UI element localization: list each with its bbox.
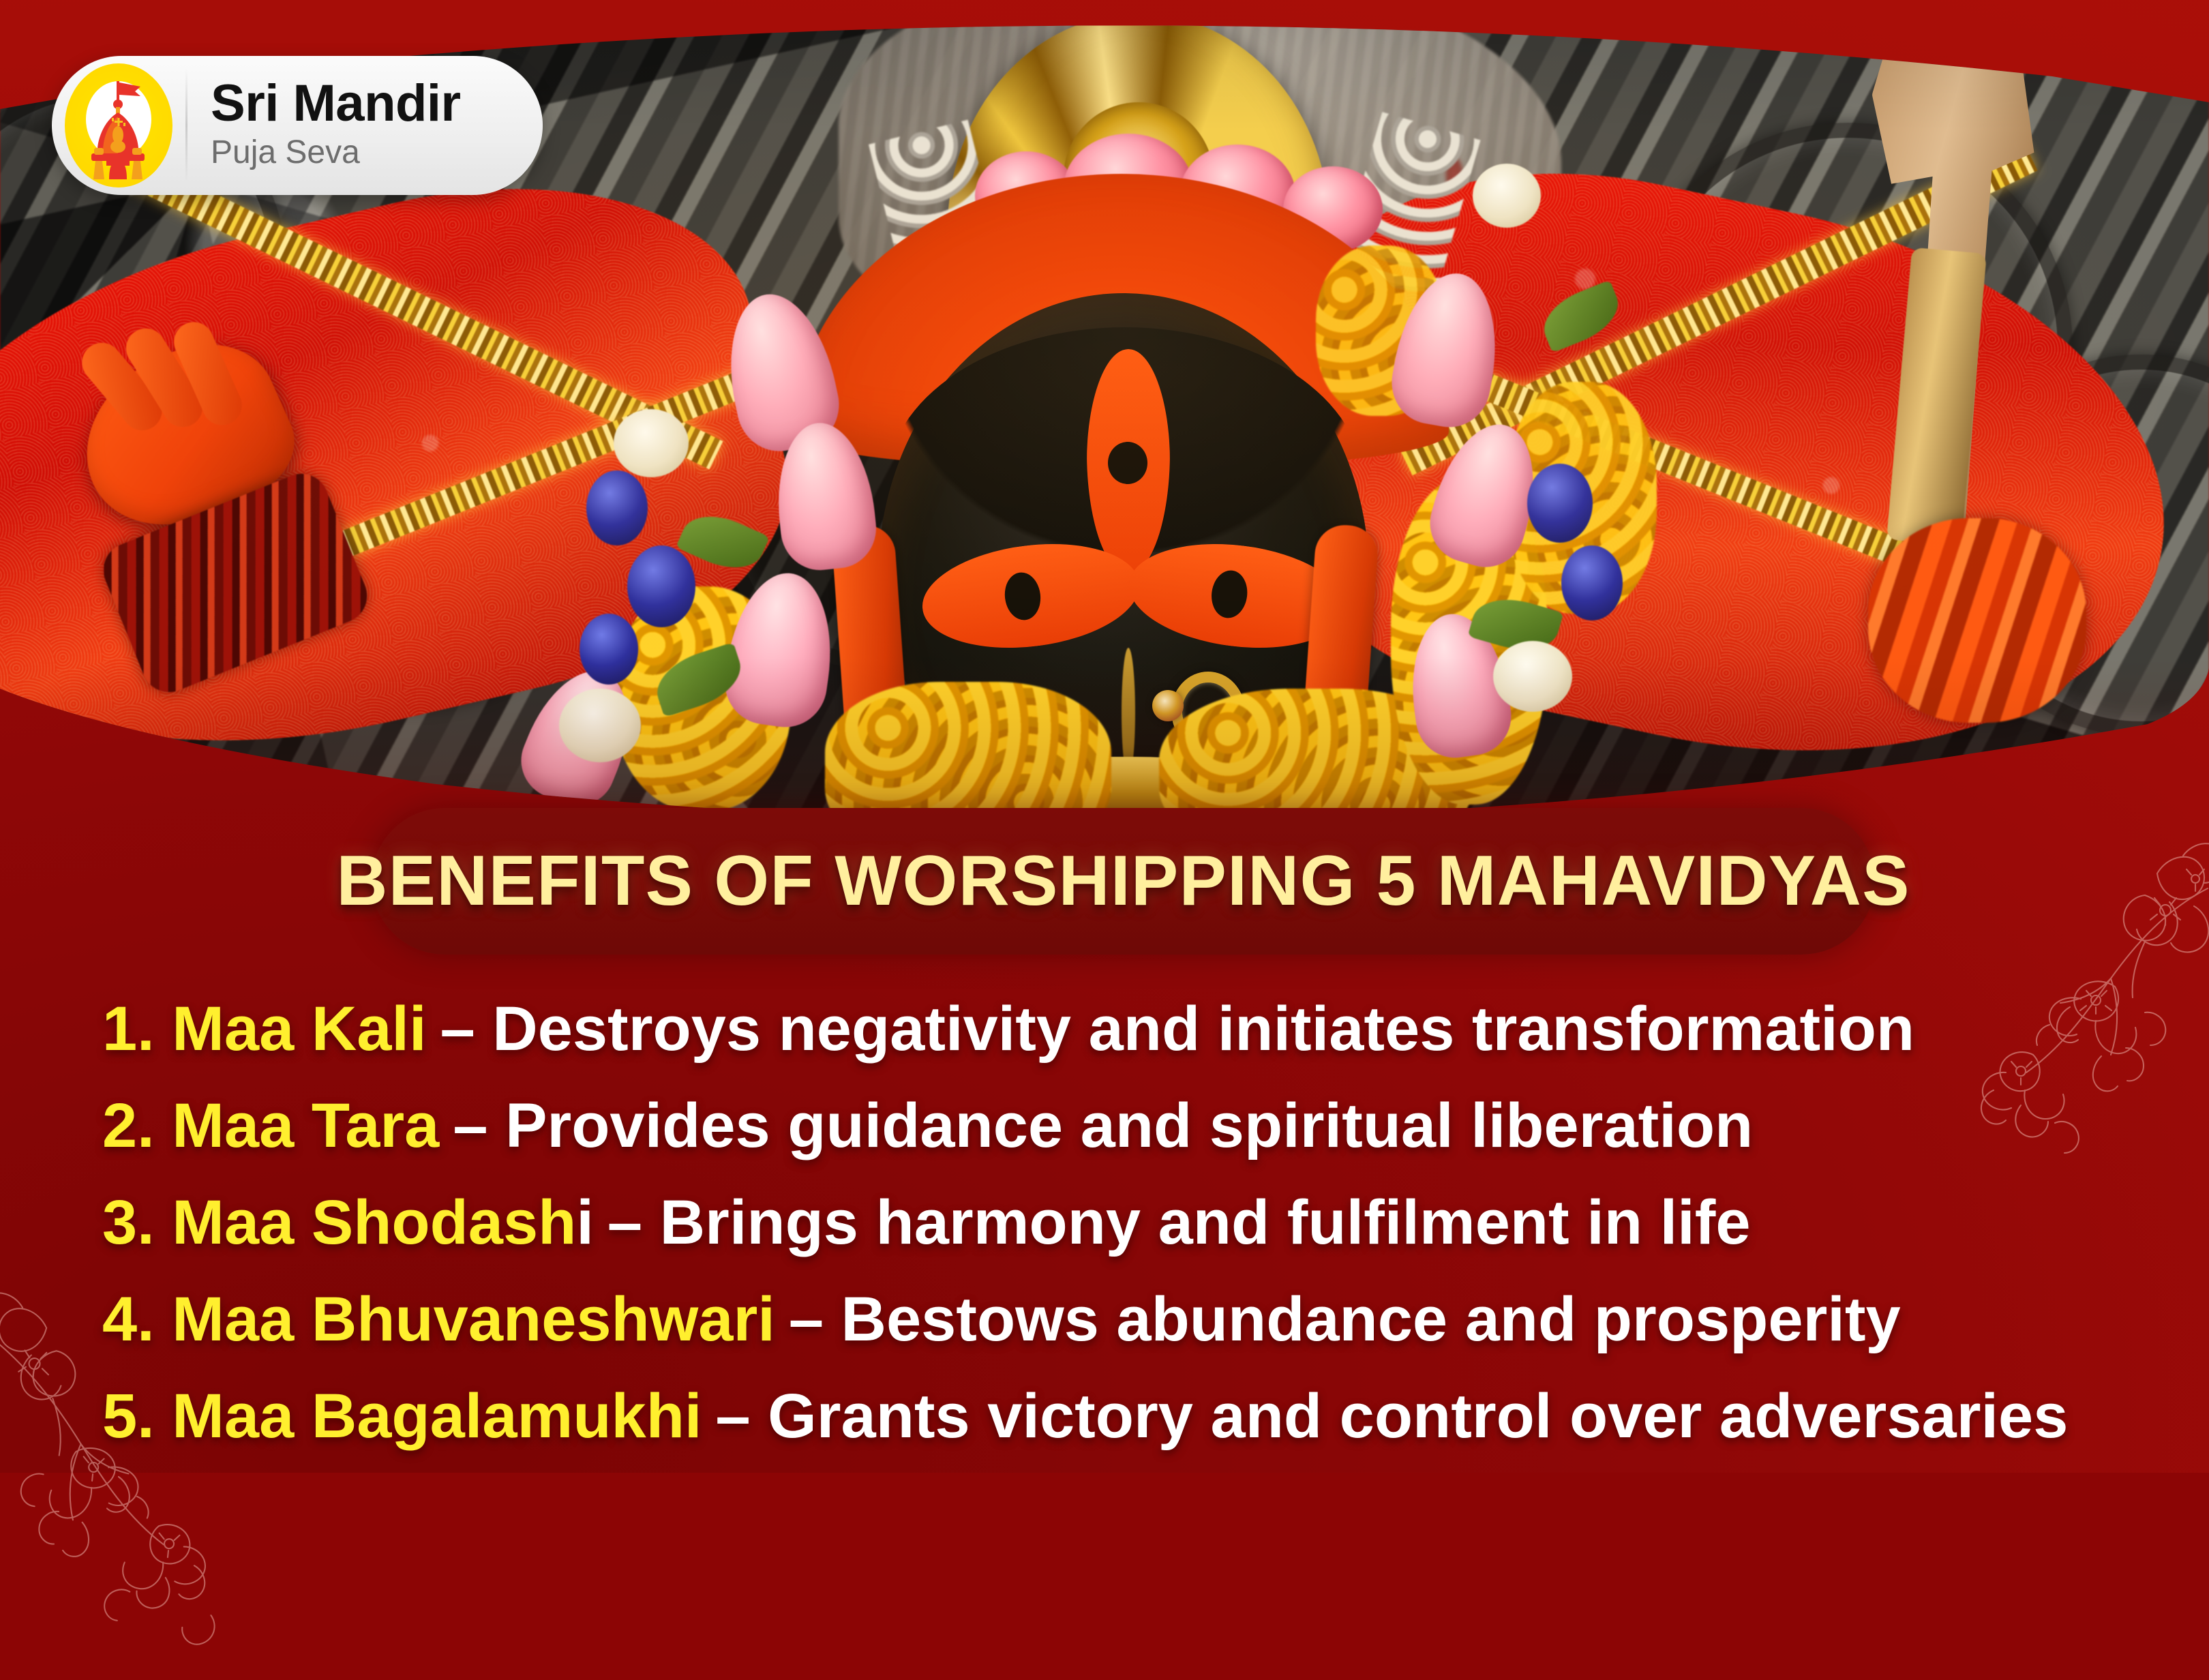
marigold-garland xyxy=(825,682,1111,822)
page-title: BENEFITS OF WORSHIPPING 5 MAHAVIDYAS xyxy=(336,841,1910,922)
white-flower xyxy=(1473,164,1541,228)
benefit-name: 1. Maa Kali xyxy=(102,993,427,1065)
benefit-description: – Bestows abundance and prosperity xyxy=(789,1284,1901,1355)
benefit-name: 2. Maa Tara xyxy=(102,1090,439,1162)
brand-name: Sri Mandir xyxy=(211,78,461,130)
benefit-description: – Provides guidance and spiritual libera… xyxy=(453,1090,1753,1162)
benefit-name: 3. Maa Shodashi xyxy=(102,1187,594,1259)
vermillion-garland-on-sword xyxy=(1868,518,2086,723)
benefit-description: – Brings harmony and fulfilment in life xyxy=(607,1187,1751,1259)
title-banner: BENEFITS OF WORSHIPPING 5 MAHAVIDYAS xyxy=(372,808,1875,955)
white-flower xyxy=(614,409,689,477)
floral-branch-line-art-icon xyxy=(0,1271,269,1680)
list-item: 4. Maa Bhuvaneshwari – Bestows abundance… xyxy=(102,1271,2120,1368)
list-item: 2. Maa Tara – Provides guidance and spir… xyxy=(102,1077,2120,1174)
logo-wrap xyxy=(52,56,185,195)
list-item: 3. Maa Shodashi – Brings harmony and ful… xyxy=(102,1174,2120,1271)
benefit-description: – Destroys negativity and initiates tran… xyxy=(440,993,1915,1065)
temple-dome-flag-icon xyxy=(65,63,172,187)
blue-flower-bud xyxy=(586,470,648,545)
white-flower xyxy=(559,689,641,762)
list-item: 1. Maa Kali – Destroys negativity and in… xyxy=(102,980,2120,1077)
floral-branch-line-art-icon xyxy=(1940,808,2209,1231)
blue-flower-bud xyxy=(1527,464,1593,543)
benefits-list: 1. Maa Kali – Destroys negativity and in… xyxy=(102,980,2120,1465)
khadga-sword-icon xyxy=(1831,18,2103,582)
poster-canvas: Sri Mandir Puja Seva BENEFITS OF WORSHIP… xyxy=(0,0,2209,1473)
sri-mandir-brand-badge[interactable]: Sri Mandir Puja Seva xyxy=(52,56,543,195)
benefit-description: – Grants victory and control over advers… xyxy=(715,1381,2068,1452)
nose-jewel xyxy=(1152,690,1184,721)
blue-flower-bud xyxy=(580,614,638,685)
white-flower xyxy=(1493,641,1572,712)
sword-grip xyxy=(1887,247,1987,546)
list-item: 5. Maa Bagalamukhi – Grants victory and … xyxy=(102,1368,2120,1465)
blue-flower-bud xyxy=(1561,545,1623,620)
blue-flower-bud xyxy=(627,545,695,627)
brand-tagline: Puja Seva xyxy=(211,132,461,173)
temple-glyph xyxy=(82,78,155,181)
badge-text: Sri Mandir Puja Seva xyxy=(187,78,461,173)
